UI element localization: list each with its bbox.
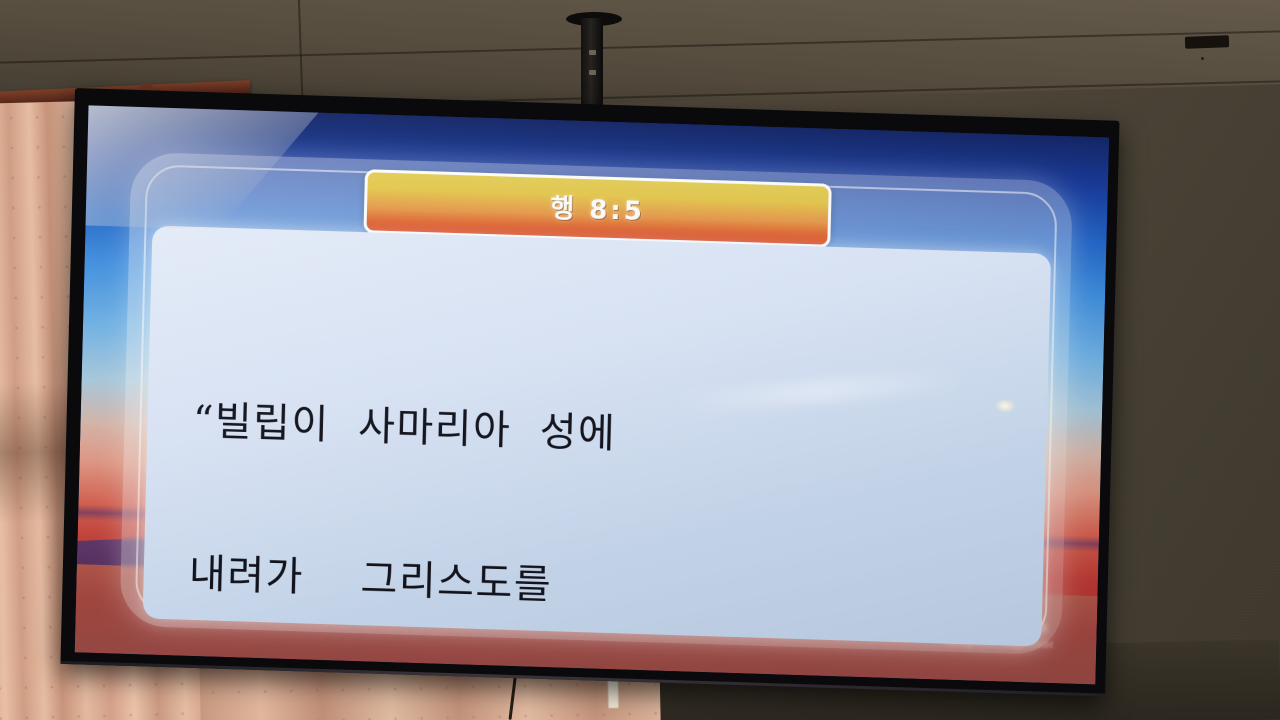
slide-text-panel: “빌립이 사마리아 성에 내려가 그리스도를 백성에게 전파하니” <box>143 225 1051 646</box>
mount-screw-icon <box>589 50 596 55</box>
wall-screw <box>1201 57 1204 60</box>
verse-line-1: “빌립이 사마리아 성에 <box>192 396 1011 473</box>
slide-title-text: 행 8:5 <box>550 188 645 228</box>
wall-mounted-object <box>1185 35 1229 49</box>
mount-screw-icon <box>589 70 596 75</box>
verse-text-block: “빌립이 사마리아 성에 내려가 그리스도를 백성에게 전파하니” <box>182 293 1014 684</box>
verse-line-2: 내려가 그리스도를 <box>188 549 1007 626</box>
photo-scene: s background image credit 행 8:5 “빌립이 사마리… <box>0 0 1280 720</box>
ceiling-mount-pole <box>581 18 603 110</box>
tv-bezel: s background image credit 행 8:5 “빌립이 사마리… <box>60 88 1119 697</box>
tv-screen[interactable]: s background image credit 행 8:5 “빌립이 사마리… <box>75 105 1109 684</box>
television: s background image credit 행 8:5 “빌립이 사마리… <box>60 88 1119 697</box>
